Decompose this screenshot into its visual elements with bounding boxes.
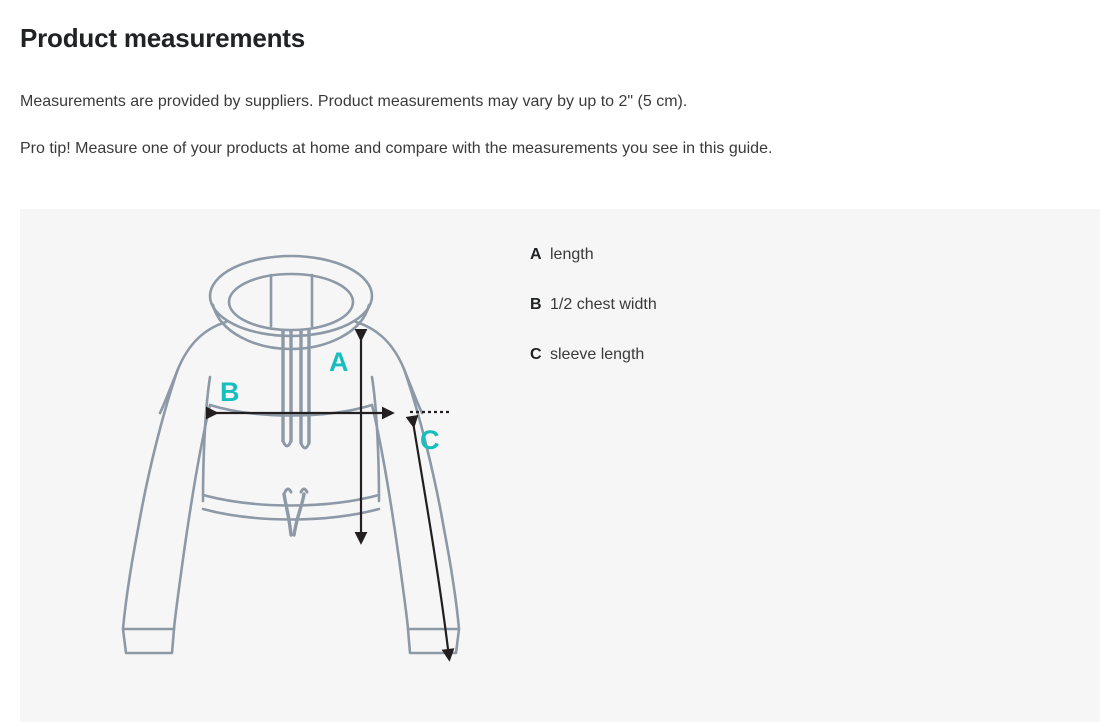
left-sleeve-outer <box>123 369 178 629</box>
legend-label-a: length <box>550 245 594 265</box>
measurement-letter-b: B <box>220 377 240 407</box>
measurements-disclaimer-text: Measurements are provided by suppliers. … <box>20 90 687 114</box>
right-sleeve-outer <box>404 369 459 629</box>
legend-item-a: A length <box>530 245 950 295</box>
body-right-side-seam <box>372 377 379 501</box>
legend-item-b: B 1/2 chest width <box>530 295 950 345</box>
measurement-letters-group: A B C <box>220 347 440 455</box>
pro-tip-text: Pro tip! Measure one of your products at… <box>20 137 772 161</box>
hem-vent-right <box>294 494 304 535</box>
legend-item-c: C sleeve length <box>530 345 950 395</box>
measurement-arrows-group <box>206 329 452 649</box>
hoodie-diagram: A B C <box>20 209 540 722</box>
legend-label-b: 1/2 chest width <box>550 295 657 315</box>
drawstring-tip-right <box>301 443 309 448</box>
garment-outline-group <box>123 256 459 653</box>
hem-band-top <box>203 495 379 506</box>
drawstring-tip-left <box>283 441 291 446</box>
page-title: Product measurements <box>20 22 305 54</box>
hem-vent-tip-left <box>285 489 291 492</box>
hoodie-diagram-svg: A B C <box>20 209 540 722</box>
measurement-letter-a: A <box>329 347 349 377</box>
hood-inner-ellipse <box>229 274 353 330</box>
body-right-shoulder <box>356 322 422 413</box>
hood-outer-ellipse <box>210 256 372 336</box>
legend-key-a: A <box>530 245 543 265</box>
left-cuff <box>123 629 174 653</box>
hem-band-bottom <box>203 509 379 520</box>
body-left-side-seam <box>203 377 210 501</box>
hem-vent-tip-right <box>301 489 307 492</box>
measurement-diagram-panel: A B C A length B 1/2 chest width C sleev… <box>20 209 1100 722</box>
measurement-legend: A length B 1/2 chest width C sleeve leng… <box>530 245 950 395</box>
measurement-letter-c: C <box>420 425 440 455</box>
product-measurements-page: Product measurements Measurements are pr… <box>0 0 1100 722</box>
hem-vent-left <box>284 494 291 535</box>
legend-key-c: C <box>530 345 543 365</box>
body-left-shoulder <box>160 322 226 413</box>
legend-label-c: sleeve length <box>550 345 644 365</box>
legend-key-b: B <box>530 295 543 315</box>
right-cuff <box>408 629 459 653</box>
